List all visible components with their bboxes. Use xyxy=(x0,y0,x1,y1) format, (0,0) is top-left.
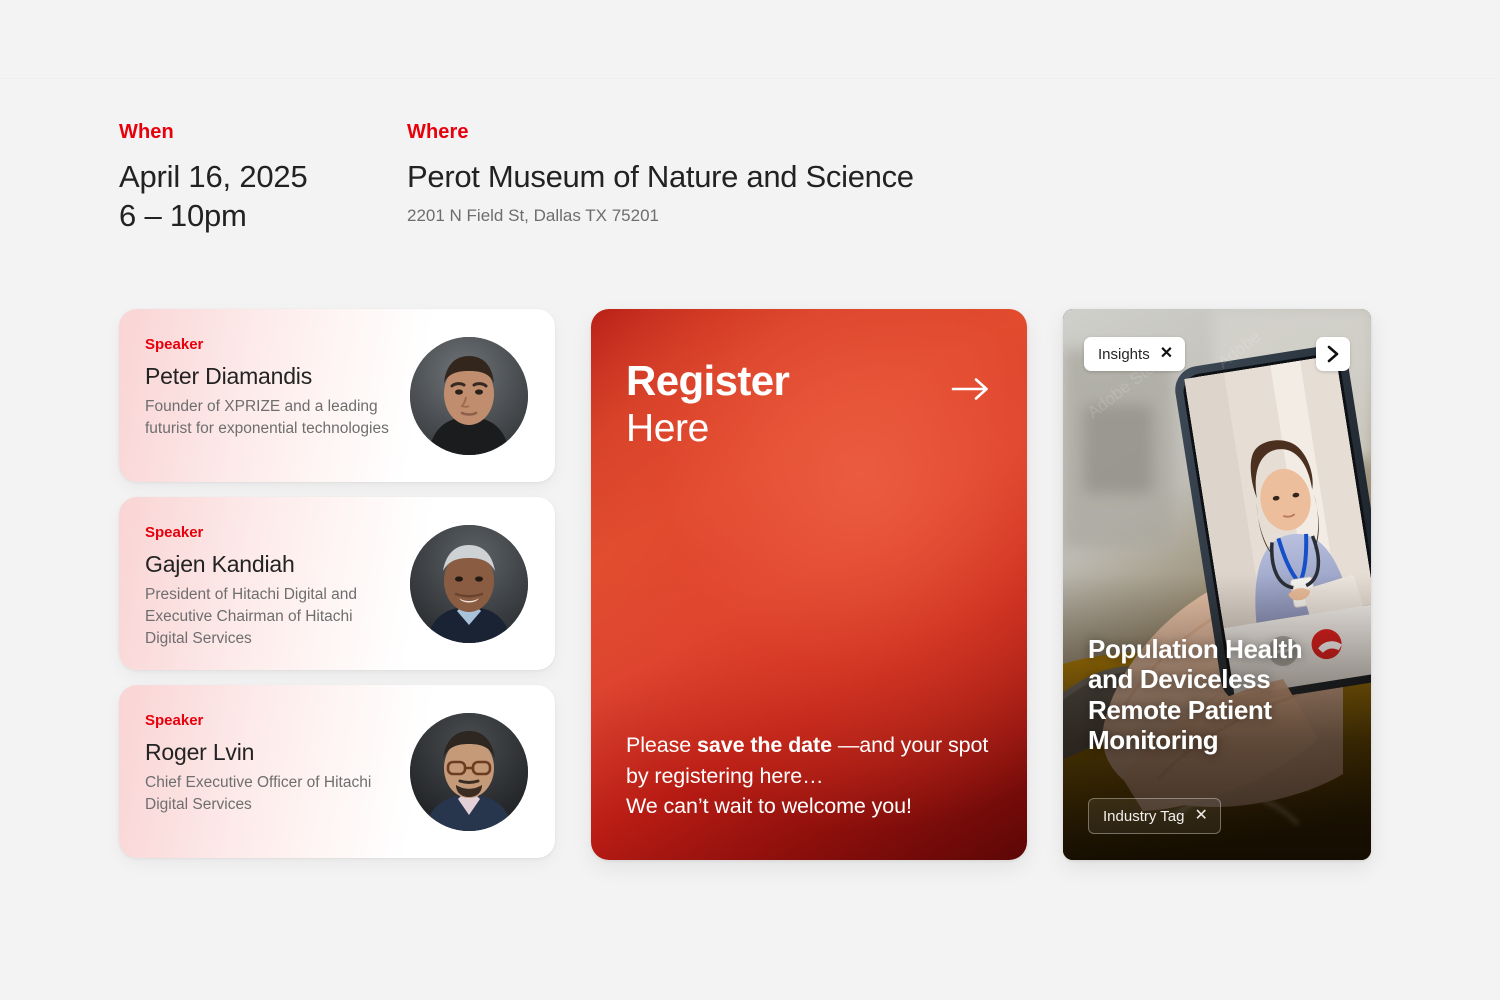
footer-lead: Please xyxy=(626,733,697,757)
event-invite-page: When April 16, 2025 6 – 10pm Where Perot… xyxy=(0,0,1500,1000)
insights-chip[interactable]: Insights ✕ xyxy=(1084,337,1185,371)
speaker-info: Speaker Roger Lvin Chief Executive Offic… xyxy=(145,712,395,816)
event-when-block: When April 16, 2025 6 – 10pm xyxy=(119,120,407,236)
speaker-kicker: Speaker xyxy=(145,336,395,354)
event-details: When April 16, 2025 6 – 10pm Where Perot… xyxy=(119,120,914,236)
speaker-card[interactable]: Speaker Gajen Kandiah President of Hitac… xyxy=(119,497,555,670)
register-header: Register Here xyxy=(626,359,997,449)
insights-title: Population Health and Deviceless Remote … xyxy=(1088,634,1353,756)
avatar xyxy=(410,525,528,643)
speaker-card[interactable]: Speaker Roger Lvin Chief Executive Offic… xyxy=(119,685,555,858)
speaker-role: Founder of XPRIZE and a leading futurist… xyxy=(145,396,395,440)
event-where-block: Where Perot Museum of Nature and Science… xyxy=(407,120,914,236)
chevron-right-icon[interactable] xyxy=(1316,337,1350,371)
header-divider xyxy=(0,78,1500,79)
speaker-role: Chief Executive Officer of Hitachi Digit… xyxy=(145,772,395,816)
image-scrim xyxy=(1063,309,1371,860)
register-card[interactable]: Register Here Please save the date —and … xyxy=(591,309,1027,860)
speaker-kicker: Speaker xyxy=(145,524,395,542)
speaker-info: Speaker Peter Diamandis Founder of XPRIZ… xyxy=(145,336,395,440)
speaker-info: Speaker Gajen Kandiah President of Hitac… xyxy=(145,524,395,650)
speaker-role: President of Hitachi Digital and Executi… xyxy=(145,584,395,650)
arrow-right-icon[interactable] xyxy=(949,367,993,411)
insights-chip-label: Insights xyxy=(1098,347,1150,362)
speaker-name: Gajen Kandiah xyxy=(145,551,395,579)
avatar xyxy=(410,337,528,455)
avatar xyxy=(410,713,528,831)
venue-name: Perot Museum of Nature and Science xyxy=(407,158,914,197)
close-icon[interactable]: ✕ xyxy=(1194,808,1207,824)
speaker-list: Speaker Peter Diamandis Founder of XPRIZ… xyxy=(119,309,555,860)
register-title-line2: Here xyxy=(626,408,789,449)
footer-strong: save the date xyxy=(697,733,832,757)
speaker-kicker: Speaker xyxy=(145,712,395,730)
card-grid: Speaker Peter Diamandis Founder of XPRIZ… xyxy=(119,309,1371,860)
industry-tag-label: Industry Tag xyxy=(1103,809,1184,824)
register-title-line1: Register xyxy=(626,359,789,404)
register-footer-text: Please save the date —and your spot by r… xyxy=(626,730,997,822)
when-value: April 16, 2025 6 – 10pm xyxy=(119,158,407,236)
industry-tag-chip[interactable]: Industry Tag ✕ xyxy=(1088,798,1221,834)
when-label: When xyxy=(119,120,407,144)
register-title: Register Here xyxy=(626,359,789,449)
speaker-name: Peter Diamandis xyxy=(145,363,395,391)
close-icon[interactable]: ✕ xyxy=(1160,346,1173,362)
speaker-card[interactable]: Speaker Peter Diamandis Founder of XPRIZ… xyxy=(119,309,555,482)
venue-address: 2201 N Field St, Dallas TX 75201 xyxy=(407,203,914,229)
insights-card[interactable]: Adobe Stock Adobe Insights ✕ Population … xyxy=(1063,309,1371,860)
where-label: Where xyxy=(407,120,914,144)
speaker-name: Roger Lvin xyxy=(145,739,395,767)
